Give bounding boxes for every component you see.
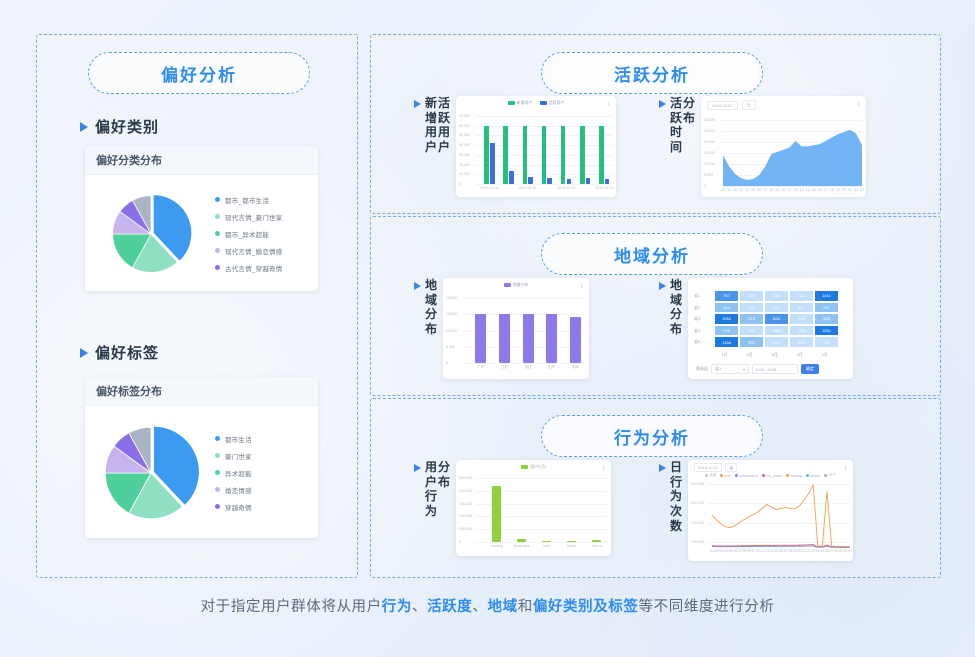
thumb-newuser-activeuser-bar[interactable]: 新增用户活跃用户⤓70,00060,00050,00040,00030,0002… <box>456 96 616 197</box>
heatmap-col-label: 1月 <box>722 352 728 358</box>
vertical-label-char: 日 <box>670 460 682 475</box>
legend-label: 都市生活 <box>225 434 252 444</box>
card-body: 都市_都市生活现代言情_豪门世家都市_异术超能现代言情_婚恋情感古代言情_穿越奇… <box>85 175 318 291</box>
heatmap-cell-4-0[interactable]: 1186 <box>714 336 739 348</box>
heatmap-cell-2-3[interactable]: 198 <box>789 313 814 325</box>
gridline <box>463 298 585 299</box>
x-axis-tick: 07 <box>763 188 767 192</box>
gridline <box>476 116 612 117</box>
legend-text: 用户行为 <box>530 464 546 470</box>
heatmap-cell-4-3[interactable]: 131 <box>789 336 814 348</box>
label-user-behavior: 用户行为分布 <box>414 460 450 519</box>
x-axis-tick: 26 <box>825 549 829 553</box>
vertical-label-char: 活 <box>438 96 450 111</box>
x-axis-tick: 15 <box>812 188 816 192</box>
vertical-label-char: 域 <box>425 293 437 308</box>
heading-label: 偏好类别 <box>95 116 159 137</box>
vertical-label-col-0: 日行为次数 <box>670 460 682 533</box>
bar-2 <box>523 314 534 363</box>
y-axis-tick: 200,000 <box>459 514 472 518</box>
x-axis-tick: 03 <box>719 549 723 553</box>
vertical-label-char: 分 <box>438 460 450 475</box>
x-axis-tick: 06 <box>733 549 737 553</box>
bar-1-1 <box>509 171 514 184</box>
heatmap-cell-3-1[interactable]: 181 <box>739 325 764 337</box>
x-axis-tick: 15 <box>774 549 778 553</box>
y-axis-tick: 300,000 <box>459 502 472 506</box>
x-axis-tick: 21 <box>848 188 852 192</box>
x-axis-tick: 02 <box>715 549 719 553</box>
heatmap-cell-1-2[interactable]: 291 <box>764 302 789 314</box>
y-axis-tick: 30,000 <box>459 153 470 157</box>
y-axis-tick: 5,000 <box>446 345 455 349</box>
caption-part-1: 对于指定用户群体将从用户 <box>201 599 382 615</box>
area-svg <box>701 96 866 197</box>
legend-item[interactable]: 穿越奇情 <box>215 502 318 512</box>
x-axis-tick: 01 <box>710 549 714 553</box>
heatmap-cell-2-1[interactable]: 415 <box>739 313 764 325</box>
vertical-label-char: 地 <box>670 278 682 293</box>
caption-part-5: 等不同维度进行分析 <box>639 599 775 615</box>
x-axis-tick: 13 <box>765 549 769 553</box>
vertical-label-char: 布 <box>438 475 450 490</box>
vertical-label-char: 行 <box>425 489 437 504</box>
vertical-label-columns: 新增用户活跃用户 <box>425 96 450 155</box>
legend-label: 现代言情_豪门世家 <box>225 212 282 222</box>
x-axis-tick: 11 <box>756 549 760 553</box>
y-axis-tick: 15,000 <box>446 312 457 316</box>
card-preference-tag: 偏好标签分布 都市生活豪门世家异术超能婚恋情感穿越奇情 <box>85 377 318 538</box>
y-axis-tick: 0 <box>459 182 461 186</box>
line-svg <box>688 460 853 561</box>
x-axis-tick: 07 <box>738 549 742 553</box>
bar-1 <box>517 539 526 542</box>
heatmap-cell-3-3[interactable]: 134 <box>789 325 814 337</box>
legend-item[interactable]: 婚恋情感 <box>215 485 318 495</box>
y-axis-tick: 500,000 <box>459 476 472 480</box>
caption-part-4: 和 <box>518 599 533 615</box>
heatmap-col-label: 4月 <box>797 352 803 358</box>
x-axis-tick: vote <box>543 544 550 548</box>
area-fill <box>723 130 862 186</box>
heatmap-cell-0-3[interactable]: 116 <box>789 290 814 302</box>
heatmap-cell-4-4[interactable]: 155 <box>814 336 839 348</box>
y-axis-tick: 60,000 <box>459 124 470 128</box>
pie-svg <box>103 186 199 282</box>
label-active-time-dist: 活跃时间分布 <box>659 96 695 155</box>
x-axis-tick: 28 <box>834 549 838 553</box>
label-daily-behavior-count: 日行为次数 <box>659 460 682 533</box>
vertical-label-col-1: 活跃用户 <box>438 96 450 155</box>
x-axis-tick: 19 <box>836 188 840 192</box>
heatmap-cell-0-0[interactable]: 767 <box>714 290 739 302</box>
legend-item[interactable]: 都市_都市生活 <box>215 195 318 205</box>
x-axis-tick: 江苏 <box>501 365 508 370</box>
heatmap-cell-1-0[interactable]: 484 <box>714 302 739 314</box>
pie-legend-tag: 都市生活豪门世家异术超能婚恋情感穿越奇情 <box>211 434 318 512</box>
pie-chart-category <box>85 186 211 282</box>
triangle-bullet-icon <box>659 282 666 290</box>
vertical-label-col-0: 活跃时间 <box>670 96 682 155</box>
legend-text: 新增用户 <box>517 100 533 106</box>
legend-color-dot <box>215 487 220 492</box>
x-axis-tick: reading <box>491 544 503 548</box>
card-title: 偏好标签分布 <box>85 377 318 406</box>
download-icon[interactable]: ⤓ <box>602 465 605 472</box>
caption-highlight-pref: 偏好类别及标签 <box>533 599 639 615</box>
vertical-label-char: 用 <box>425 460 437 475</box>
gridline <box>476 184 612 185</box>
x-axis-tick: 31 <box>848 549 852 553</box>
x-axis-tick: 14 <box>806 188 810 192</box>
legend-color-dot <box>215 214 220 219</box>
legend-color-dot <box>215 436 220 441</box>
thumb-daily-behavior-line[interactable]: 2019-12-01▦全部votesubscribtionmy_sharerea… <box>688 460 853 561</box>
title-geography-analysis: 地域分析 <box>541 233 763 275</box>
gridline <box>476 478 607 479</box>
vertical-label-char: 分 <box>683 96 695 111</box>
heatmap-row-label: 省5 <box>694 339 700 345</box>
title-activity-analysis: 活跃分析 <box>541 52 763 94</box>
x-axis-tick: share <box>567 544 576 548</box>
x-axis-tick: 04 <box>745 188 749 192</box>
triangle-bullet-icon <box>659 100 666 108</box>
x-axis-tick: 08 <box>742 549 746 553</box>
bar-0 <box>492 486 501 542</box>
y-axis-tick: 50,000 <box>459 133 470 137</box>
chart-legend: 地域分布 <box>443 282 589 288</box>
x-axis-tick: 09 <box>747 549 751 553</box>
heatmap-controls: 筛选值省1▾0.00 ~ 0.00确定 <box>696 364 819 374</box>
vertical-label-columns: 日行为次数 <box>670 460 682 533</box>
x-axis-tick: 02 <box>733 188 737 192</box>
x-axis-tick: 山东 <box>548 365 555 370</box>
heatmap-cell-2-2[interactable]: 828 <box>764 313 789 325</box>
x-axis-tick: 06 <box>757 188 761 192</box>
x-axis-tick: 河南 <box>572 365 579 370</box>
vertical-label-char: 分 <box>425 307 437 322</box>
vertical-label-col-0: 地域分布 <box>425 278 437 337</box>
vertical-label-char: 域 <box>670 293 682 308</box>
pie-legend-category: 都市_都市生活现代言情_豪门世家都市_异术超能现代言情_婚恋情感古代言情_穿越奇… <box>211 195 318 273</box>
vertical-label-char: 户 <box>425 140 437 155</box>
title-behavior-analysis: 行为分析 <box>541 415 763 457</box>
vertical-label-char: 间 <box>670 140 682 155</box>
x-axis-tick: 25 <box>820 549 824 553</box>
legend-text: 地域分布 <box>513 282 529 288</box>
x-axis-tick: 10 <box>781 188 785 192</box>
heatmap-cell-0-2[interactable]: 344 <box>764 290 789 302</box>
vertical-label-char: 地 <box>425 278 437 293</box>
bar-1-0 <box>490 143 495 184</box>
legend-item[interactable]: 古代言情_穿越奇情 <box>215 263 318 273</box>
x-axis-tick: 17 <box>784 549 788 553</box>
heatmap-col-label: 3月 <box>772 352 778 358</box>
x-axis-tick: 2019-11-01 <box>519 186 537 190</box>
heatmap-cell-1-4[interactable]: 451 <box>814 302 839 314</box>
bar-3 <box>546 314 557 363</box>
legend-item[interactable]: 现代言情_婚恋情感 <box>215 246 318 256</box>
y-axis-tick: 40,000 <box>459 143 470 147</box>
bar-1-3 <box>547 178 552 184</box>
legend-label: 异术超能 <box>225 468 252 478</box>
legend-label: 都市_都市生活 <box>225 195 269 205</box>
bar-1-6 <box>605 179 610 184</box>
legend-item[interactable]: 都市生活 <box>215 434 318 444</box>
bar-0-2 <box>523 126 528 184</box>
gridline <box>476 542 607 543</box>
x-axis-tick: 2019-12-01 <box>557 186 575 190</box>
legend-color-dot <box>215 265 220 270</box>
x-axis-tick: 24 <box>816 549 820 553</box>
vertical-label-col-0: 新增用户 <box>425 96 437 155</box>
legend-entry[interactable]: 新增用户 <box>508 100 533 106</box>
legend-swatch <box>504 283 511 287</box>
x-axis-tick: 21 <box>802 549 806 553</box>
heatmap-row-label: 省3 <box>694 316 700 322</box>
legend-label: 婚恋情感 <box>225 485 252 495</box>
triangle-bullet-icon <box>80 348 88 358</box>
heatmap-cell-3-2[interactable]: 366 <box>764 325 789 337</box>
vertical-label-col-1: 分布 <box>683 96 695 155</box>
legend-color-dot <box>215 248 220 253</box>
legend-color-dot <box>215 504 220 509</box>
vertical-label-char: 增 <box>425 111 437 126</box>
x-axis-tick: 20 <box>842 188 846 192</box>
bar-0-5 <box>580 126 585 184</box>
row-daily-behavior-count: 日行为次数 2019-12-01▦全部votesubscribtionmy_sh… <box>659 460 853 561</box>
y-axis-tick: 0 <box>446 361 448 365</box>
heatmap-cell-1-1[interactable]: 198 <box>739 302 764 314</box>
x-axis-tick: 05 <box>728 549 732 553</box>
x-axis-tick: 14 <box>770 549 774 553</box>
filter-select[interactable]: 省1▾ <box>711 364 749 374</box>
vertical-label-char: 跃 <box>670 111 682 126</box>
x-axis-tick: 17 <box>824 188 828 192</box>
vertical-label-col-1: 分布 <box>438 460 450 519</box>
heatmap-row-label: 省4 <box>694 328 700 334</box>
x-axis-tick: 12 <box>761 549 765 553</box>
triangle-bullet-icon <box>414 464 421 472</box>
bar-0-6 <box>599 126 604 184</box>
x-axis-tick: 23 <box>811 549 815 553</box>
x-axis-tick: 16 <box>779 549 783 553</box>
x-axis-tick: 09 <box>775 188 779 192</box>
x-axis-tick: 2019-10-01 <box>480 186 498 190</box>
heatmap-cell-4-2[interactable]: 347 <box>764 336 789 348</box>
heatmap-cell-0-1[interactable]: 190 <box>739 290 764 302</box>
row-geo-dist-bar: 地域分布 地域分布⤓20,00015,00010,0005,0000广东江苏浙江… <box>414 278 589 379</box>
y-axis-tick: 10,000 <box>446 329 457 333</box>
vertical-label-char: 布 <box>670 322 682 337</box>
legend-item[interactable]: 现代言情_豪门世家 <box>215 212 318 222</box>
pie-chart-tag <box>85 421 211 525</box>
vertical-label-columns: 用户行为分布 <box>425 460 450 519</box>
legend-swatch <box>521 465 528 469</box>
legend-entry[interactable]: 用户行为 <box>521 464 546 470</box>
heatmap-cell-4-1[interactable]: 535 <box>739 336 764 348</box>
bar-0-1 <box>503 126 508 184</box>
legend-label: 穿越奇情 <box>225 502 252 512</box>
heatmap-cell-1-3[interactable]: 191 <box>789 302 814 314</box>
heading-preference-tag: 偏好标签 <box>80 342 159 363</box>
y-axis-tick: 20,000 <box>446 296 457 300</box>
vertical-label-col-0: 用户行为 <box>425 460 437 519</box>
legend-entry[interactable]: 地域分布 <box>504 282 529 288</box>
legend-swatch <box>540 101 547 105</box>
row-user-behavior-dist: 用户行为分布 用户行为⤓500,000400,000300,000200,000… <box>414 460 611 556</box>
filter-confirm-button[interactable]: 确定 <box>801 364 819 374</box>
y-axis-tick: 400,000 <box>459 489 472 493</box>
vertical-label-char: 数 <box>670 519 682 534</box>
infographic-stage: 偏好分析 活跃分析 地域分析 行为分析 偏好类别 偏好标签 偏好分类分布 都市_… <box>0 0 975 657</box>
x-axis-tick: 03 <box>739 188 743 192</box>
pie-svg <box>99 421 203 525</box>
legend-color-dot <box>215 470 220 475</box>
vertical-label-char: 为 <box>425 504 437 519</box>
heatmap-cell-2-0[interactable]: 1084 <box>714 313 739 325</box>
legend-item[interactable]: 都市_异术超能 <box>215 229 318 239</box>
legend-label: 都市_异术超能 <box>225 229 269 239</box>
legend-color-dot <box>215 231 220 236</box>
y-axis-tick: 0 <box>459 540 461 544</box>
chart-legend: 用户行为 <box>456 464 611 470</box>
x-axis-tick: 01 <box>727 188 731 192</box>
x-axis-tick: 20 <box>797 549 801 553</box>
y-axis-tick: 100,000 <box>459 527 472 531</box>
vertical-label-char: 分 <box>670 307 682 322</box>
vertical-label-columns: 地域分布 <box>670 278 682 337</box>
vertical-label-char: 行 <box>670 475 682 490</box>
vertical-label-char: 户 <box>438 140 450 155</box>
bar-1-2 <box>528 177 533 184</box>
title-preference-analysis: 偏好分析 <box>88 52 310 94</box>
x-axis-tick: 05 <box>751 188 755 192</box>
x-axis-tick: 广东 <box>477 365 484 370</box>
vertical-label-char: 次 <box>670 504 682 519</box>
x-axis-tick: 浙江 <box>524 365 531 370</box>
heatmap-row-label: 省2 <box>694 305 700 311</box>
caption-part-3: 、 <box>472 599 487 615</box>
heading-label: 偏好标签 <box>95 342 159 363</box>
legend-item[interactable]: 豪门世家 <box>215 451 318 461</box>
card-preference-category: 偏好分类分布 都市_都市生活现代言情_豪门世家都市_异术超能现代言情_婚恋情感古… <box>85 146 318 291</box>
bar-1-4 <box>567 179 572 184</box>
x-axis-tick: 19 <box>793 549 797 553</box>
vertical-label-char: 用 <box>438 125 450 140</box>
legend-color-dot <box>215 197 220 202</box>
vertical-label-char: 为 <box>670 489 682 504</box>
bar-0-0 <box>484 126 489 184</box>
bar-1 <box>499 314 510 363</box>
x-axis-tick: 23 <box>860 188 864 192</box>
label-new-active-users: 新增用户活跃用户 <box>414 96 450 155</box>
heatmap-col-label: 5月 <box>822 352 828 358</box>
heatmap-cell-0-4[interactable]: 1011 <box>814 290 839 302</box>
heatmap-cell-2-4[interactable]: 428 <box>814 313 839 325</box>
legend-label: 豪门世家 <box>225 451 252 461</box>
x-axis-tick: 29 <box>839 549 843 553</box>
triangle-bullet-icon <box>414 282 421 290</box>
y-axis-tick: 10,000 <box>459 172 470 176</box>
heatmap-row-label: 省1 <box>694 293 700 299</box>
bar-1-5 <box>586 178 591 184</box>
thumb-behavior-bar[interactable]: 用户行为⤓500,000400,000300,000200,000100,000… <box>456 460 611 556</box>
legend-text: 活跃用户 <box>549 100 565 106</box>
bar-0-3 <box>542 126 547 184</box>
triangle-bullet-icon <box>80 122 88 132</box>
caption-part-2: 、 <box>412 599 427 615</box>
x-axis-tick: 00 <box>721 188 725 192</box>
filter-label: 筛选值 <box>696 366 708 372</box>
thumb-geo-heatmap[interactable]: 省17671903441161011省2484198291191451省3108… <box>688 278 853 379</box>
bar-4 <box>570 317 581 363</box>
x-axis-tick: 18 <box>830 188 834 192</box>
x-axis-tick: 16 <box>818 188 822 192</box>
legend-entry[interactable]: 活跃用户 <box>540 100 565 106</box>
heatmap-cell-3-0[interactable]: 455 <box>714 325 739 337</box>
caption-highlight-activity: 活跃度 <box>427 599 472 615</box>
bar-0 <box>475 314 486 363</box>
row-geo-heatmap: 地域分布 省17671903441161011省2484198291191451… <box>659 278 853 379</box>
vertical-label-col-0: 地域分布 <box>670 278 682 337</box>
triangle-bullet-icon <box>414 100 421 108</box>
caption-text: 对于指定用户群体将从用户行为、活跃度、地域和偏好类别及标签等不同维度进行分析 <box>0 595 975 616</box>
bar-0-4 <box>561 126 566 184</box>
download-icon[interactable]: ⤓ <box>580 283 583 290</box>
x-axis-tick: 08 <box>769 188 773 192</box>
thumb-geo-bar[interactable]: 地域分布⤓20,00015,00010,0005,0000广东江苏浙江山东河南 <box>443 278 589 379</box>
x-axis-tick: 10 <box>751 549 755 553</box>
chevron-down-icon: ▾ <box>743 367 745 372</box>
legend-label: 现代言情_婚恋情感 <box>225 246 282 256</box>
x-axis-tick: 04 <box>724 549 728 553</box>
vertical-label-char: 用 <box>425 125 437 140</box>
bar-2 <box>542 541 551 542</box>
x-axis-tick: 13 <box>800 188 804 192</box>
triangle-bullet-icon <box>659 464 666 472</box>
x-axis-tick: 22 <box>807 549 811 553</box>
chart-legend: 新增用户活跃用户 <box>456 100 616 106</box>
label-geo-dist-right: 地域分布 <box>659 278 682 337</box>
vertical-label-char: 户 <box>425 475 437 490</box>
vertical-label-char: 布 <box>683 111 695 126</box>
vertical-label-char: 新 <box>425 96 437 111</box>
legend-item[interactable]: 异术超能 <box>215 468 318 478</box>
legend-label: 古代言情_穿越奇情 <box>225 263 282 273</box>
download-icon[interactable]: ⤓ <box>607 101 610 108</box>
vertical-label-char: 时 <box>670 125 682 140</box>
heading-preference-category: 偏好类别 <box>80 116 159 137</box>
vertical-label-columns: 地域分布 <box>425 278 437 337</box>
thumb-active-time-area[interactable]: 2019-12-31日⤓30,00025,00020,00015,00010,0… <box>701 96 866 197</box>
bar-4 <box>592 540 601 542</box>
vertical-label-columns: 活跃时间分布 <box>670 96 695 155</box>
vertical-label-char: 布 <box>425 322 437 337</box>
bar-3 <box>567 541 576 542</box>
gridline <box>463 363 585 364</box>
x-axis-tick: 2019-12-31 <box>595 186 613 190</box>
filter-range-input[interactable]: 0.00 ~ 0.00 <box>752 364 798 374</box>
filter-select-value: 省1 <box>715 366 721 372</box>
label-geo-dist-left: 地域分布 <box>414 278 437 337</box>
heatmap-cell-3-4[interactable]: 1051 <box>814 325 839 337</box>
card-body: 都市生活豪门世家异术超能婚恋情感穿越奇情 <box>85 406 318 538</box>
x-axis-tick: 22 <box>854 188 858 192</box>
heatmap-col-label: 2月 <box>747 352 753 358</box>
x-axis-tick: 27 <box>830 549 834 553</box>
y-axis-tick: 20,000 <box>459 163 470 167</box>
